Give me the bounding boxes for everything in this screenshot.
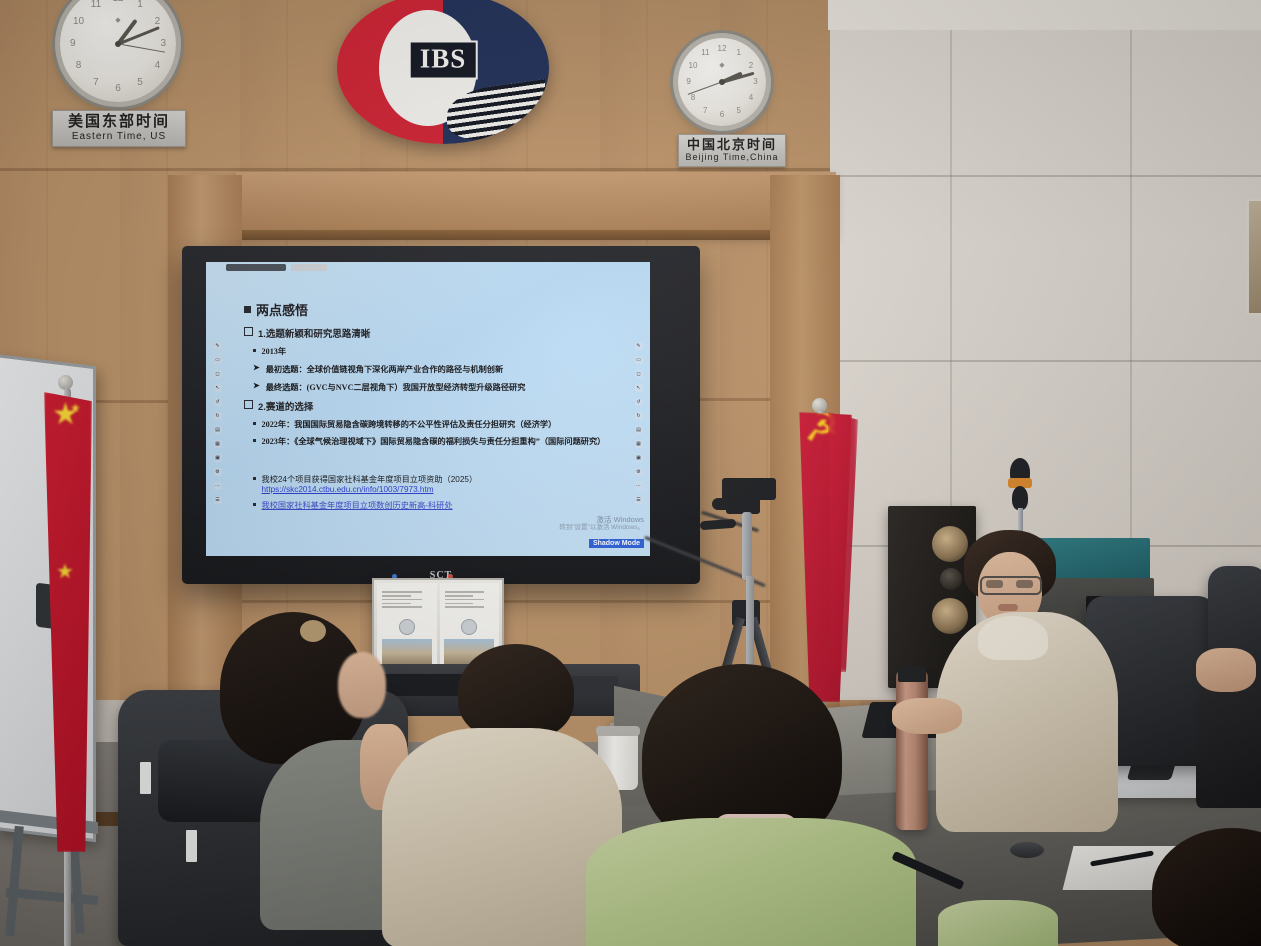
wall-picture-frame [1246,198,1261,316]
smartboard-screen[interactable]: ✎ ▭ ◻ ↖ ↺ ↻ ▤ ▦ ▣ ⚙ ⋯ ☰ ✎ ▭ ◻ ↖ ↺ ↻ [206,262,650,556]
document-seal [461,619,477,635]
chair-tag [186,830,197,862]
soffit [236,172,836,236]
slide-bullet: 2013年 [253,345,632,357]
windows-activation-watermark: 激活 Windows 转到"设置"以激活 Windows。 Shadow Mod… [559,515,644,551]
beijing-time-en-label: Beijing Time,China [685,152,779,163]
presentation-slide: 两点感悟 1.选题新颖和研究思路清晰 2013年 ➤ 最初选题：全球价值链视角下… [206,262,650,556]
beijing-time-sign: 中国北京时间 Beijing Time,China [678,134,786,167]
slide-bullet-text: 2023年：《全球气候治理视域下》国际贸易隐含碳的福利损失与责任分担重构”（国际… [262,435,606,447]
bullet-dot-icon [253,349,256,352]
ibs-logo-plate: IBS [409,41,478,80]
clock-second-hand [688,81,722,94]
bullet-dot-icon [253,503,256,506]
slide-title: 两点感悟 [256,300,308,319]
ceiling-edge [828,0,1261,30]
slide-bullet: ➤ 最初选题：全球价值链视角下深化两岸产业合作的路径与机制创新 [253,363,632,375]
eastern-time-cn-label: 美国东部时间 [59,114,179,131]
clock-brand: ◆ [719,61,724,69]
hand [1196,648,1256,692]
microphone-body [1012,486,1028,510]
eyeglass-lens [986,580,1003,588]
eyeglass-lens [1016,580,1033,588]
attendee-green-coat [586,664,916,946]
hair-clip [300,620,326,642]
attendee-right-edge [1196,648,1261,808]
green-puffer-jacket [586,818,916,946]
attendee-bottom-right [1134,828,1261,946]
hair [1152,828,1261,946]
slide-bullet-text: 最终选题：(GVC与NVC二层视角下）我国开放型经济转型升级路径研究 [266,381,526,393]
face-profile [338,652,386,718]
slide-bullet-text: 2022年：我国国际贸易隐含碳跨境转移的不公平性评估及责任分担研究（经济学） [262,418,557,430]
slide-bullet: 我校国家社科基金年度项目立项数创历史新高-科研处 [253,499,632,511]
jacket-collar [978,616,1048,660]
tripod-column [742,512,752,580]
arrow-bullet-icon: ➤ [253,382,260,390]
slide-bullet-text: 2013年 [262,345,287,357]
clock-brand: ◆ [115,16,120,24]
slide-bullet-text: 我校24个项目获得国家社科基金年度项目立项资助（2025） [262,475,478,484]
shadow-mode-badge[interactable]: Shadow Mode [589,539,644,548]
mouth [998,604,1018,611]
camera-lens [712,498,734,510]
slide-section-1-text: 1.选题新颖和研究思路清晰 [258,326,370,340]
eastern-time-sign: 美国东部时间 Eastern Time, US [52,110,186,147]
small-container [1010,842,1044,858]
green-jacket-sleeve [938,900,1058,946]
slide-bullet: ➤ 最终选题：(GVC与NVC二层视角下）我国开放型经济转型升级路径研究 [253,381,632,393]
slide-title-row: 两点感悟 [244,300,632,319]
slide-section-2-text: 2.赛道的选择 [258,399,313,413]
wall-seam [0,168,860,171]
bullet-box-icon [244,327,253,336]
bullet-dot-icon [253,422,256,425]
ibs-logo-text: IBS [411,43,476,78]
watermark-line-1: 激活 Windows [559,515,644,524]
eastern-time-en-label: Eastern Time, US [59,131,179,143]
beijing-time-clock: ◆ 12 1 2 3 4 5 6 7 8 9 10 11 [678,38,766,126]
slide-hyperlink[interactable]: 我校国家社科基金年度项目立项数创历史新高-科研处 [262,499,453,511]
soffit-lip [236,230,836,240]
bullet-dot-icon [253,477,256,480]
slide-bullet: 2022年：我国国际贸易隐含碳跨境转移的不公平性评估及责任分担研究（经济学） [253,418,632,430]
ibs-logo: IBS [337,0,549,144]
meeting-room-photo: ◆ 12 1 2 3 4 5 6 7 8 9 10 11 美国东部时间 East… [0,0,1261,946]
slide-bullet: 2023年：《全球气候治理视域下》国际贸易隐含碳的福利损失与责任分担重构”（国际… [253,435,632,447]
bullet-box-icon [244,400,253,409]
hair [458,644,574,740]
arrow-bullet-icon: ➤ [253,364,260,372]
presenter-woman [930,530,1120,830]
watermark-line-2: 转到"设置"以激活 Windows。 [559,524,644,532]
slide-section-1: 1.选题新颖和研究思路清晰 [244,326,632,340]
beijing-time-cn-label: 中国北京时间 [685,138,779,152]
slide-bullet-text: 最初选题：全球价值链视角下深化两岸产业合作的路径与机制创新 [266,363,503,375]
interactive-smartboard[interactable]: ✎ ▭ ◻ ↖ ↺ ↻ ▤ ▦ ▣ ⚙ ⋯ ☰ ✎ ▭ ◻ ↖ ↺ ↻ [182,246,700,584]
bullet-dot-icon [253,439,256,442]
slide-hyperlink[interactable]: https://skc2014.ctbu.edu.cn/info/1003/79… [262,485,434,494]
slide-bullet: 我校24个项目获得国家社科基金年度项目立项资助（2025） https://sk… [253,473,632,494]
clock-second-hand [118,43,166,53]
bullet-square-icon [244,306,251,313]
chair-tag [140,762,151,794]
slide-section-2: 2.赛道的选择 [244,399,632,413]
